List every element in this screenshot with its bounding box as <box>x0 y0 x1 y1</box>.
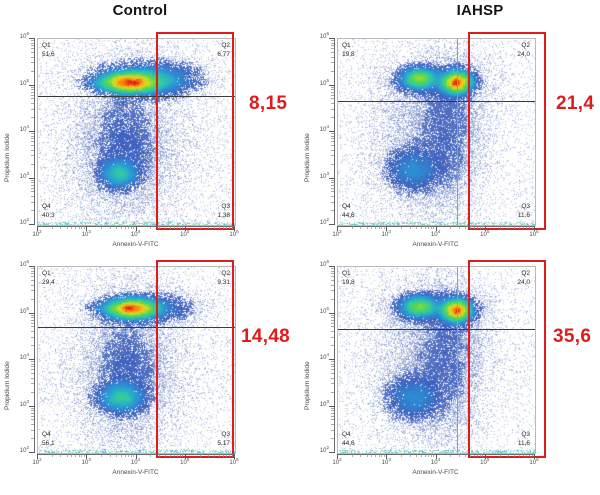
x-axis-minor-tick <box>480 454 481 457</box>
plot-area: Q1 51,6 Q2 6,77 Q3 1,38 Q4 40,3 <box>37 38 236 226</box>
y-axis-minor-tick <box>31 71 34 72</box>
x-axis-minor-tick <box>170 226 171 229</box>
x-axis-minor-tick <box>428 454 429 457</box>
y-axis-minor-tick <box>31 290 34 291</box>
y-axis-minor-tick <box>331 57 334 58</box>
x-axis-tick-label: 102 <box>29 460 45 466</box>
x-axis-minor-tick <box>150 226 151 229</box>
quadrant-name: Q2 <box>517 270 530 279</box>
y-axis-minor-tick <box>31 210 34 211</box>
y-axis-minor-tick <box>331 364 334 365</box>
y-axis-minor-tick <box>31 268 34 269</box>
x-axis-minor-tick <box>180 454 181 457</box>
quadrant-label-q4: Q4 40,3 <box>42 203 55 220</box>
quadrant-value: 44,6 <box>342 212 355 221</box>
x-axis-minor-tick <box>75 454 76 457</box>
y-axis-minor-tick <box>331 408 334 409</box>
x-axis-minor-tick <box>232 226 233 229</box>
x-axis-minor-tick <box>200 454 201 457</box>
x-axis-minor-tick <box>532 226 533 229</box>
y-axis-minor-tick <box>31 280 34 281</box>
y-axis-tick <box>29 85 35 86</box>
x-axis-tick-label: 105 <box>177 460 193 466</box>
y-axis-minor-tick <box>31 182 34 183</box>
y-axis-minor-tick <box>331 416 334 417</box>
x-axis-minor-tick <box>84 454 85 457</box>
y-axis-minor-tick <box>31 373 34 374</box>
y-axis-minor-tick <box>31 196 34 197</box>
quadrant-value: 11,6 <box>518 440 530 449</box>
y-axis-minor-tick <box>331 52 334 53</box>
x-axis-minor-tick <box>67 454 68 457</box>
x-axis-tick-label: 102 <box>29 232 45 238</box>
quadrant-value: 51,6 <box>42 51 55 60</box>
y-axis-minor-tick <box>31 273 34 274</box>
x-axis-minor-tick <box>84 226 85 229</box>
y-axis-tick-label: 102 <box>11 448 29 454</box>
quadrant-horizontal-divider <box>38 327 235 328</box>
quadrant-name: Q2 <box>517 42 530 51</box>
x-axis-tick-label: 104 <box>428 232 444 238</box>
x-axis-minor-tick <box>480 226 481 229</box>
y-axis-tick-label: 104 <box>11 355 29 361</box>
quadrant-name: Q2 <box>217 42 230 51</box>
x-axis-minor-tick <box>519 454 520 457</box>
y-axis-minor-tick <box>331 345 334 346</box>
y-axis-minor-tick <box>331 141 334 142</box>
x-axis-title: Annexin-V-FITC <box>37 241 234 248</box>
y-axis-minor-tick <box>31 57 34 58</box>
y-axis-minor-tick <box>31 43 34 44</box>
x-axis-minor-tick <box>465 454 466 457</box>
y-axis-minor-tick <box>331 290 334 291</box>
y-axis-minor-tick <box>331 280 334 281</box>
quadrant-label-q3: Q3 11,6 <box>518 203 530 220</box>
y-axis-minor-tick <box>31 383 34 384</box>
quadrant-name: Q1 <box>42 270 55 279</box>
y-axis-tick-label: 103 <box>11 174 29 180</box>
y-axis-minor-tick <box>331 438 334 439</box>
y-axis-minor-tick <box>331 180 334 181</box>
x-axis-minor-tick <box>232 454 233 457</box>
x-axis-minor-tick <box>526 454 527 457</box>
x-axis-minor-tick <box>371 454 372 457</box>
y-axis-minor-tick <box>331 320 334 321</box>
x-axis-tick-label: 103 <box>378 232 394 238</box>
y-axis-minor-tick <box>31 109 34 110</box>
y-axis-tick-label: 106 <box>311 34 329 40</box>
y-axis-tick-label: 105 <box>11 81 29 87</box>
y-axis-minor-tick <box>331 361 334 362</box>
y-axis-minor-tick <box>331 369 334 370</box>
x-axis-minor-tick <box>482 454 483 457</box>
y-axis-tick-label: 106 <box>311 262 329 268</box>
x-axis-minor-tick <box>219 454 220 457</box>
x-axis-minor-tick <box>523 226 524 229</box>
y-axis-minor-tick <box>31 89 34 90</box>
quadrant-vertical-divider <box>457 267 458 453</box>
x-axis-minor-tick <box>416 226 417 229</box>
y-axis-minor-tick <box>31 95 34 96</box>
y-axis-tick-label: 104 <box>311 127 329 133</box>
quadrant-horizontal-divider <box>338 101 535 102</box>
y-axis-minor-tick <box>31 320 34 321</box>
y-axis-tick <box>329 406 335 407</box>
y-axis-minor-tick <box>331 392 334 393</box>
y-axis-tick-label: 105 <box>311 81 329 87</box>
x-axis-tick-label: 105 <box>177 232 193 238</box>
y-axis-minor-tick <box>31 40 34 41</box>
x-axis-minor-tick <box>529 226 530 229</box>
y-axis-minor-tick <box>331 276 334 277</box>
x-axis-minor-tick <box>474 454 475 457</box>
y-axis-minor-tick <box>331 315 334 316</box>
quadrant-vertical-divider <box>157 39 158 225</box>
y-axis-tick <box>329 178 335 179</box>
y-axis-minor-tick <box>331 202 334 203</box>
y-axis-minor-tick <box>331 62 334 63</box>
y-axis-tick-label: 104 <box>311 355 329 361</box>
y-axis-minor-tick <box>331 337 334 338</box>
quadrant-value: 24,0 <box>517 279 530 288</box>
y-axis-minor-tick <box>331 103 334 104</box>
x-axis-minor-tick <box>459 226 460 229</box>
y-axis-minor-tick <box>31 98 34 99</box>
x-axis-minor-tick <box>381 226 382 229</box>
x-axis-minor-tick <box>125 454 126 457</box>
y-axis-tick <box>329 313 335 314</box>
quadrant-label-q4: Q4 56,1 <box>42 431 55 448</box>
x-axis-minor-tick <box>133 454 134 457</box>
y-axis-title: Propidium Iodide <box>304 133 311 182</box>
y-axis-tick-label: 106 <box>11 262 29 268</box>
quadrant-label-q3: Q3 11,6 <box>518 431 530 448</box>
x-axis-minor-tick <box>482 226 483 229</box>
x-axis-minor-tick <box>410 454 411 457</box>
quadrant-value: 9,31 <box>217 279 230 288</box>
y-axis-minor-tick <box>31 364 34 365</box>
y-axis-minor-tick <box>331 419 334 420</box>
quadrant-value: 24,0 <box>517 51 530 60</box>
y-axis-minor-tick <box>331 188 334 189</box>
y-axis-tick-label: 104 <box>11 127 29 133</box>
x-axis-minor-tick <box>214 226 215 229</box>
x-axis-minor-tick <box>375 454 376 457</box>
x-axis-minor-tick <box>200 226 201 229</box>
y-axis-tick <box>29 38 35 39</box>
quadrant-value: 5,17 <box>217 440 230 449</box>
x-axis-minor-tick <box>500 454 501 457</box>
y-axis-tick <box>29 178 35 179</box>
x-axis-minor-tick <box>177 226 178 229</box>
x-axis-minor-tick <box>208 226 209 229</box>
x-axis-minor-tick <box>433 226 434 229</box>
x-axis-minor-tick <box>182 454 183 457</box>
y-axis-minor-tick <box>331 48 334 49</box>
x-axis-tick-label: 106 <box>526 460 542 466</box>
y-axis-minor-tick <box>31 369 34 370</box>
x-axis-minor-tick <box>375 226 376 229</box>
x-axis-minor-tick <box>133 226 134 229</box>
quadrant-vertical-divider <box>157 267 158 453</box>
x-axis-tick-label: 102 <box>329 460 345 466</box>
gate-percentage-readout: 8,15 <box>249 93 287 115</box>
x-axis-minor-tick <box>425 226 426 229</box>
x-axis-tick <box>485 454 486 459</box>
x-axis-minor-tick <box>121 226 122 229</box>
y-axis-minor-tick <box>31 103 34 104</box>
y-axis-minor-tick <box>331 413 334 414</box>
quadrant-name: Q1 <box>342 42 355 51</box>
x-axis-minor-tick <box>229 454 230 457</box>
x-axis-tick-label: 105 <box>477 232 493 238</box>
x-axis-minor-tick <box>121 454 122 457</box>
y-axis-minor-tick <box>331 299 334 300</box>
x-axis-tick-label: 106 <box>226 232 242 238</box>
quadrant-name: Q4 <box>42 431 55 440</box>
y-axis-minor-tick <box>31 317 34 318</box>
y-axis-minor-tick <box>331 95 334 96</box>
x-axis-minor-tick <box>381 454 382 457</box>
y-axis-minor-tick <box>331 164 334 165</box>
x-axis-tick-label: 104 <box>128 232 144 238</box>
quadrant-value: 6,77 <box>217 51 230 60</box>
x-axis-minor-tick <box>182 226 183 229</box>
x-axis-minor-tick <box>67 226 68 229</box>
x-axis-minor-tick <box>128 454 129 457</box>
y-axis-minor-tick <box>31 150 34 151</box>
quadrant-vertical-divider <box>457 39 458 225</box>
quadrant-label-q1: Q1 29,4 <box>42 270 55 287</box>
x-axis-minor-tick <box>170 454 171 457</box>
y-axis-minor-tick <box>31 145 34 146</box>
quadrant-name: Q1 <box>42 42 55 51</box>
y-axis-minor-tick <box>31 408 34 409</box>
y-axis-minor-tick <box>331 89 334 90</box>
quadrant-label-q2: Q2 24,0 <box>517 42 530 59</box>
y-axis-minor-tick <box>331 326 334 327</box>
x-axis-minor-tick <box>352 454 353 457</box>
x-axis-minor-tick <box>477 226 478 229</box>
y-axis-minor-tick <box>331 273 334 274</box>
quadrant-value: 56,1 <box>42 440 55 449</box>
density-scatter-cloud <box>38 39 235 225</box>
x-axis-minor-tick <box>360 226 361 229</box>
quadrant-name: Q2 <box>217 270 230 279</box>
y-axis-minor-tick <box>331 155 334 156</box>
x-axis-tick <box>185 226 186 231</box>
quadrant-horizontal-divider <box>38 96 235 97</box>
y-axis-minor-tick <box>31 87 34 88</box>
y-axis-minor-tick <box>331 317 334 318</box>
y-axis-minor-tick <box>331 71 334 72</box>
x-axis-minor-tick <box>529 454 530 457</box>
quadrant-value: 11,6 <box>518 212 530 221</box>
y-axis-minor-tick <box>31 326 34 327</box>
y-axis-minor-tick <box>31 285 34 286</box>
y-axis-minor-tick <box>31 361 34 362</box>
x-axis-minor-tick <box>474 226 475 229</box>
x-axis-minor-tick <box>75 226 76 229</box>
y-axis-tick-label: 103 <box>311 174 329 180</box>
x-axis-minor-tick <box>410 226 411 229</box>
quadrant-value: 19,8 <box>342 279 355 288</box>
x-axis-minor-tick <box>470 226 471 229</box>
y-axis-minor-tick <box>31 191 34 192</box>
y-axis-minor-tick <box>331 323 334 324</box>
y-axis-tick <box>29 266 35 267</box>
x-axis-minor-tick <box>428 226 429 229</box>
x-axis-minor-tick <box>128 226 129 229</box>
y-axis-minor-tick <box>31 185 34 186</box>
quadrant-value: 19,8 <box>342 51 355 60</box>
y-axis-minor-tick <box>331 383 334 384</box>
y-axis-minor-tick <box>31 438 34 439</box>
y-axis-tick <box>29 359 35 360</box>
x-axis-minor-tick <box>79 454 80 457</box>
y-axis-minor-tick <box>331 271 334 272</box>
x-axis-tick <box>37 454 38 459</box>
x-axis-minor-tick <box>514 226 515 229</box>
x-axis-tick-label: 102 <box>329 232 345 238</box>
x-axis-minor-tick <box>508 454 509 457</box>
y-axis-minor-tick <box>331 43 334 44</box>
gate-percentage-readout: 21,4 <box>556 93 594 115</box>
flow-cytometry-figure: Control IAHSP Q1 51,6 Q2 6,77 Q3 1,38 Q4… <box>0 0 600 495</box>
x-axis-minor-tick <box>470 454 471 457</box>
y-axis-minor-tick <box>331 366 334 367</box>
y-axis-minor-tick <box>331 87 334 88</box>
gate-percentage-readout: 14,48 <box>241 326 290 348</box>
x-axis-minor-tick <box>226 454 227 457</box>
x-axis-minor-tick <box>159 226 160 229</box>
x-axis-minor-tick <box>519 226 520 229</box>
x-axis-minor-tick <box>214 454 215 457</box>
x-axis-tick-label: 106 <box>526 232 542 238</box>
y-axis-minor-tick <box>31 180 34 181</box>
x-axis-minor-tick <box>477 454 478 457</box>
x-axis-minor-tick <box>379 226 380 229</box>
y-axis-tick <box>29 313 35 314</box>
panel-bottom-right: Q1 19,8 Q2 24,0 Q3 11,6 Q4 44,6 35,6 102… <box>300 248 600 495</box>
x-axis-tick <box>136 226 137 231</box>
x-axis-minor-tick <box>450 226 451 229</box>
y-axis-minor-tick <box>31 202 34 203</box>
x-axis-minor-tick <box>223 226 224 229</box>
x-axis-minor-tick <box>174 226 175 229</box>
x-axis-minor-tick <box>523 454 524 457</box>
y-axis-tick-label: 103 <box>11 402 29 408</box>
y-axis-title: Propidium Iodide <box>304 361 311 410</box>
y-axis-minor-tick <box>331 182 334 183</box>
x-axis-title: Annexin-V-FITC <box>37 469 234 476</box>
x-axis-title: Annexin-V-FITC <box>337 469 534 476</box>
x-axis-minor-tick <box>79 226 80 229</box>
y-axis-minor-tick <box>31 416 34 417</box>
x-axis-minor-tick <box>384 454 385 457</box>
y-axis-tick-label: 105 <box>311 309 329 315</box>
quadrant-name: Q4 <box>342 203 355 212</box>
y-axis-tick <box>329 452 335 453</box>
x-axis-minor-tick <box>401 226 402 229</box>
y-axis-tick <box>329 131 335 132</box>
x-axis-tick <box>485 226 486 231</box>
quadrant-label-q1: Q1 19,8 <box>342 42 355 59</box>
x-axis-minor-tick <box>433 454 434 457</box>
y-axis-minor-tick <box>31 276 34 277</box>
y-axis-tick-label: 105 <box>11 309 29 315</box>
quadrant-label-q3: Q3 1,38 <box>217 203 230 220</box>
y-axis-minor-tick <box>31 315 34 316</box>
x-axis-minor-tick <box>52 226 53 229</box>
y-axis-minor-tick <box>31 52 34 53</box>
x-axis-minor-tick <box>71 454 72 457</box>
y-axis-minor-tick <box>31 138 34 139</box>
y-axis-minor-tick <box>31 299 34 300</box>
x-axis-minor-tick <box>81 226 82 229</box>
x-axis-minor-tick <box>450 454 451 457</box>
y-axis-minor-tick <box>331 136 334 137</box>
x-axis-minor-tick <box>500 226 501 229</box>
y-axis-minor-tick <box>331 378 334 379</box>
quadrant-name: Q4 <box>342 431 355 440</box>
quadrant-value: 29,4 <box>42 279 55 288</box>
x-axis-minor-tick <box>116 454 117 457</box>
x-axis-minor-tick <box>60 454 61 457</box>
y-axis-minor-tick <box>31 48 34 49</box>
y-axis-minor-tick <box>331 138 334 139</box>
x-axis-tick <box>534 454 535 459</box>
y-axis-minor-tick <box>31 331 34 332</box>
x-axis-tick-label: 103 <box>378 460 394 466</box>
x-axis-minor-tick <box>81 454 82 457</box>
quadrant-name: Q1 <box>342 270 355 279</box>
density-scatter-cloud <box>338 267 535 453</box>
y-axis-tick-label: 103 <box>311 402 329 408</box>
x-axis-minor-tick <box>101 454 102 457</box>
y-axis-minor-tick <box>31 410 34 411</box>
y-axis-minor-tick <box>31 337 34 338</box>
y-axis-minor-tick <box>331 191 334 192</box>
quadrant-label-q2: Q2 6,77 <box>217 42 230 59</box>
x-axis-tick-label: 104 <box>128 460 144 466</box>
y-axis-minor-tick <box>31 92 34 93</box>
y-axis-minor-tick <box>31 413 34 414</box>
y-axis-minor-tick <box>31 133 34 134</box>
y-axis-minor-tick <box>31 155 34 156</box>
x-axis-tick <box>136 454 137 459</box>
x-axis-tick-label: 105 <box>477 460 493 466</box>
quadrant-label-q3: Q3 5,17 <box>217 431 230 448</box>
density-scatter-cloud <box>38 267 235 453</box>
panel-top-right: Q1 19,8 Q2 24,0 Q3 11,6 Q4 44,6 21,4 102… <box>300 0 600 247</box>
quadrant-value: 1,38 <box>217 212 230 221</box>
gate-percentage-readout: 35,6 <box>553 326 591 348</box>
x-axis-minor-tick <box>116 226 117 229</box>
x-axis-minor-tick <box>150 454 151 457</box>
y-axis-minor-tick <box>31 62 34 63</box>
x-axis-minor-tick <box>514 454 515 457</box>
quadrant-name: Q3 <box>217 431 230 440</box>
x-axis-minor-tick <box>131 454 132 457</box>
x-axis-tick-label: 104 <box>428 460 444 466</box>
x-axis-minor-tick <box>367 226 368 229</box>
x-axis-minor-tick <box>384 226 385 229</box>
y-axis-minor-tick <box>331 40 334 41</box>
y-axis-minor-tick <box>31 141 34 142</box>
y-axis-minor-tick <box>31 392 34 393</box>
y-axis-minor-tick <box>31 378 34 379</box>
